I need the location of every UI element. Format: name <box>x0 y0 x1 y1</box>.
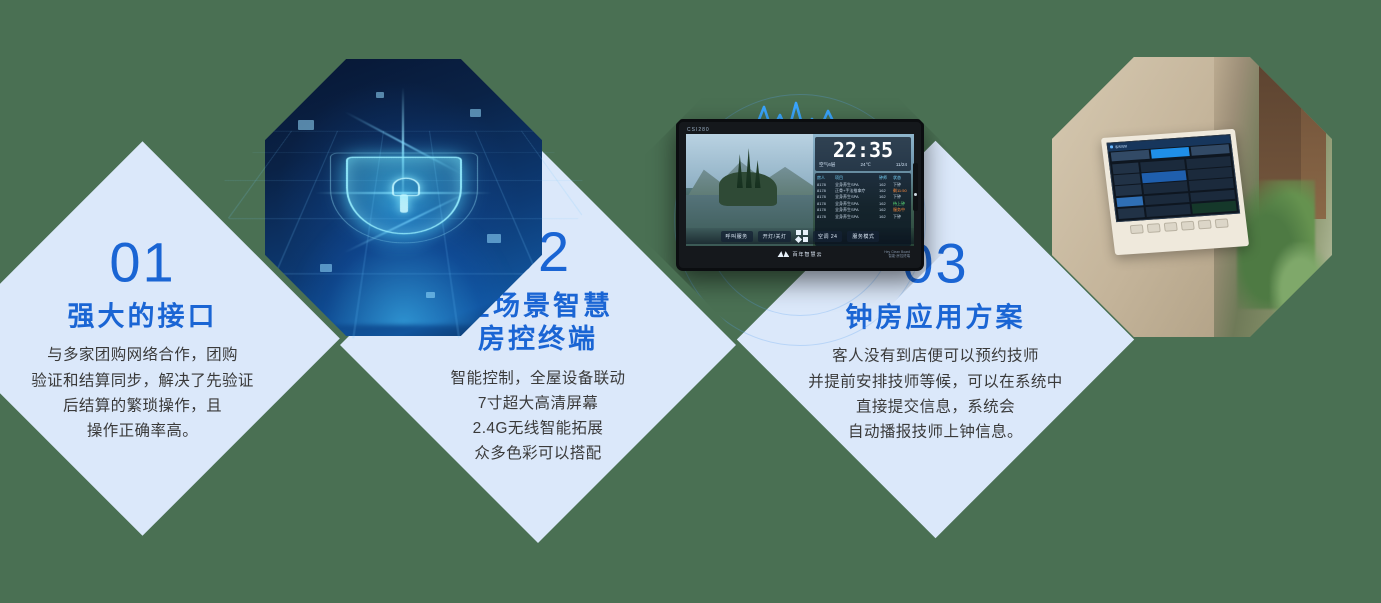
device-bottom-bezel: 百年智慧云 Hey Clean Board 智能·房控终端 <box>682 246 918 262</box>
wall-mounted-control-panel[interactable]: 客房控制 <box>1101 128 1250 254</box>
feature-3-desc-line: 直接提交信息，系统会 <box>771 394 1101 419</box>
voice-button-icon <box>914 193 917 196</box>
dock-button-service-mode[interactable]: 服务模式 <box>847 231 879 242</box>
menu-item-aroma-tech-1f[interactable] <box>1146 203 1191 216</box>
menu-item-guest-room[interactable] <box>1190 189 1235 202</box>
cell-tech: 162 <box>879 214 891 220</box>
table-row: 8178 全身养生SPA 162 下钟 <box>817 214 909 220</box>
room-control-panel-photo: 客房控制 <box>1052 57 1332 337</box>
feature-2-desc-line: 7寸超大高清屏幕 <box>388 391 688 416</box>
hardware-key[interactable] <box>1181 220 1195 230</box>
panel-title: 客房控制 <box>1115 144 1127 149</box>
feature-2-desc-line: 2.4G无线智能拓展 <box>388 416 688 441</box>
feature-1-title: 强大的接口 <box>0 300 293 333</box>
feature-1-desc-line: 与多家团购网络合作，团购 <box>0 343 292 368</box>
logo-mark-icon <box>777 251 789 257</box>
panel-body <box>1110 154 1239 221</box>
home-icon <box>1110 145 1113 148</box>
clock-meta-mid: 24℃ <box>860 162 870 168</box>
menu-item-booking-status[interactable] <box>1192 200 1237 213</box>
cell-room: 8178 <box>817 214 833 220</box>
feature-1-number: 01 <box>0 234 293 290</box>
menu-item-schedule[interactable] <box>1116 196 1143 207</box>
hardware-key[interactable] <box>1147 222 1161 232</box>
feature-1-desc-line: 验证和结算同步，解决了先验证 <box>0 368 292 393</box>
circuit-chip <box>376 92 384 98</box>
dock-button-lights[interactable]: 开灯/关灯 <box>758 231 792 242</box>
smart-room-tablet-image: CSI280 <box>660 58 940 338</box>
device-brand-label: CSI280 <box>687 127 710 133</box>
device-footer-note: Hey Clean Board 智能·房控终端 <box>884 250 910 259</box>
clock-meta-right: 11/24 <box>896 162 907 168</box>
circuit-chip <box>426 292 435 298</box>
circuit-chip <box>487 234 501 243</box>
feature-1-description: 与多家团购网络合作，团购 验证和结算同步，解决了先验证 后结算的繁琐操作，且 操… <box>0 343 292 443</box>
menu-item-senior-tech[interactable] <box>1140 159 1185 172</box>
footer-note-line: 智能·房控终端 <box>884 254 910 258</box>
clock-widget: 22:35 空气6层 24℃ 11/24 <box>815 137 911 171</box>
logo-text: 百年智慧云 <box>792 251 822 258</box>
dock-button-aircon[interactable]: 空调 24 <box>813 231 842 242</box>
panel-mid-menu[interactable] <box>1140 159 1191 216</box>
cell-item: 全身养生SPA <box>835 214 877 220</box>
menu-item-foot-room[interactable] <box>1186 156 1231 169</box>
device-side-button[interactable] <box>913 163 918 211</box>
feature-1-desc-line: 后结算的繁琐操作，且 <box>0 393 293 418</box>
hardware-key[interactable] <box>1215 218 1229 228</box>
hardware-key[interactable] <box>1198 219 1212 229</box>
device-top-bezel: CSI280 <box>682 125 918 134</box>
menu-item-spa-tech[interactable] <box>1143 181 1188 194</box>
menu-item-rest-area[interactable] <box>1189 178 1234 191</box>
panel-screen: 客房控制 <box>1107 134 1241 222</box>
feature-1-title-line: 强大的接口 <box>0 300 293 333</box>
feature-3-desc-line: 自动播报技师上钟信息。 <box>771 419 1101 444</box>
hardware-key[interactable] <box>1130 223 1144 233</box>
menu-item-health-tech[interactable] <box>1142 170 1187 183</box>
menu-item-call[interactable] <box>1114 173 1141 184</box>
indoor-plant <box>1270 242 1332 337</box>
feature-2-desc-line: 众多色彩可以搭配 <box>388 441 688 466</box>
clock-time: 22:35 <box>819 140 907 160</box>
cell-state: 下钟 <box>893 214 909 220</box>
circuit-chip <box>320 264 332 272</box>
device-logo: 百年智慧云 <box>777 251 822 258</box>
panel-left-menu[interactable] <box>1112 162 1145 218</box>
feature-2-description: 智能控制，全屋设备联动 7寸超大高清屏幕 2.4G无线智能拓展 众多色彩可以搭配 <box>388 366 688 466</box>
circuit-chip <box>298 120 314 130</box>
hardware-key[interactable] <box>1164 221 1178 231</box>
menu-item-room-status[interactable] <box>1112 162 1139 173</box>
menu-item-checkout[interactable] <box>1118 207 1145 218</box>
clock-meta: 空气6层 24℃ 11/24 <box>819 162 907 168</box>
menu-item-consume[interactable] <box>1115 184 1142 195</box>
feature-1-desc-line: 操作正确率高。 <box>0 418 293 443</box>
feature-diamond-banner: 01 强大的接口 与多家团购网络合作，团购 验证和结算同步，解决了先验证 后结算… <box>0 0 1381 603</box>
device-screen: 22:35 空气6层 24℃ 11/24 房人 项目 <box>686 134 914 246</box>
cyber-security-shield-image <box>265 59 542 336</box>
clock-meta-left: 空气6层 <box>819 162 835 168</box>
feature-2-desc-line: 智能控制，全屋设备联动 <box>388 366 688 391</box>
dock-button-call-service[interactable]: 呼叫服务 <box>721 231 753 242</box>
circuit-chip <box>470 109 481 117</box>
device-dock-bar: 呼叫服务 开灯/关灯 空调 24 服务模式 <box>686 228 914 244</box>
smart-room-tablet-device: CSI280 <box>676 119 924 271</box>
apps-grid-icon[interactable] <box>796 230 808 242</box>
menu-item-therapy-room[interactable] <box>1188 167 1233 180</box>
panel-right-menu[interactable] <box>1186 156 1237 213</box>
menu-item-aroma-tech-2f[interactable] <box>1144 192 1189 205</box>
